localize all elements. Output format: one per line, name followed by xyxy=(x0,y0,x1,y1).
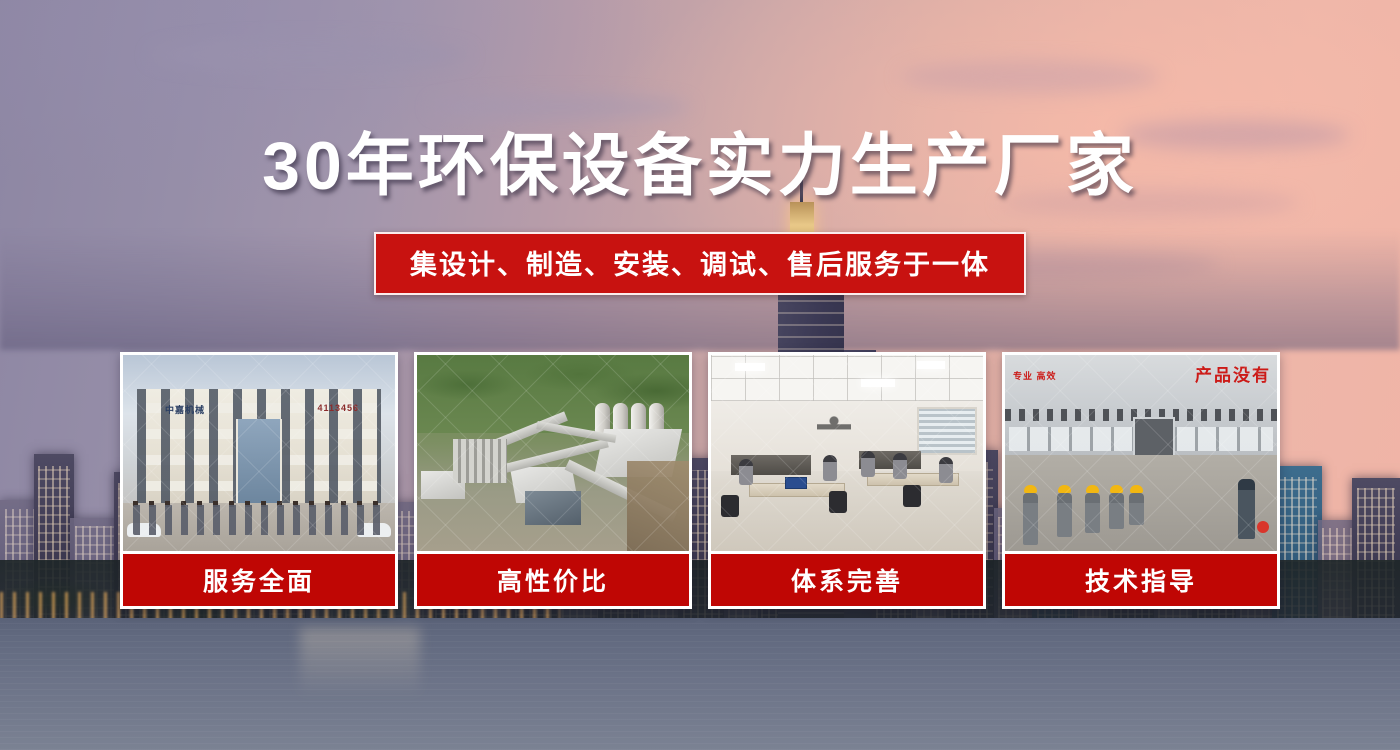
factory-wall-text: 产品没有 xyxy=(1195,361,1271,386)
subtitle-container: 集设计、制造、安装、调试、售后服务于一体 xyxy=(0,232,1400,295)
feature-card-service[interactable]: 中嘉机械 4113456 服务全面 xyxy=(120,352,398,609)
card-photo-worker-training: 产品没有 专业 高效 xyxy=(1005,355,1277,551)
feature-card-system[interactable]: 体系完善 xyxy=(708,352,986,609)
cloud-5 xyxy=(430,95,690,119)
card-caption-service: 服务全面 xyxy=(123,551,395,606)
card-caption-guidance: 技术指导 xyxy=(1005,551,1277,606)
card-photo-office-building: 中嘉机械 4113456 xyxy=(123,355,395,551)
card-caption-system: 体系完善 xyxy=(711,551,983,606)
feature-card-value[interactable]: 高性价比 xyxy=(414,352,692,609)
feature-card-guidance[interactable]: 产品没有 专业 高效 xyxy=(1002,352,1280,609)
building-phone-text: 4113456 xyxy=(317,403,359,413)
promo-banner: 30年环保设备实力生产厂家 集设计、制造、安装、调试、售后服务于一体 中嘉机械 … xyxy=(0,0,1400,750)
card-caption-value: 高性价比 xyxy=(417,551,689,606)
feature-card-list: 中嘉机械 4113456 服务全面 xyxy=(120,352,1280,609)
subtitle-badge: 集设计、制造、安装、调试、售后服务于一体 xyxy=(374,232,1026,295)
building-sign-text: 中嘉机械 xyxy=(165,403,205,416)
river-water xyxy=(0,618,1400,750)
cloud-4 xyxy=(150,40,470,70)
cloud-1 xyxy=(900,60,1160,94)
card-photo-office-interior xyxy=(711,355,983,551)
factory-wall-text-left: 专业 高效 xyxy=(1013,369,1057,382)
page-title: 30年环保设备实力生产厂家 xyxy=(0,132,1400,200)
card-photo-plant-aerial xyxy=(417,355,689,551)
water-reflection xyxy=(300,628,420,698)
